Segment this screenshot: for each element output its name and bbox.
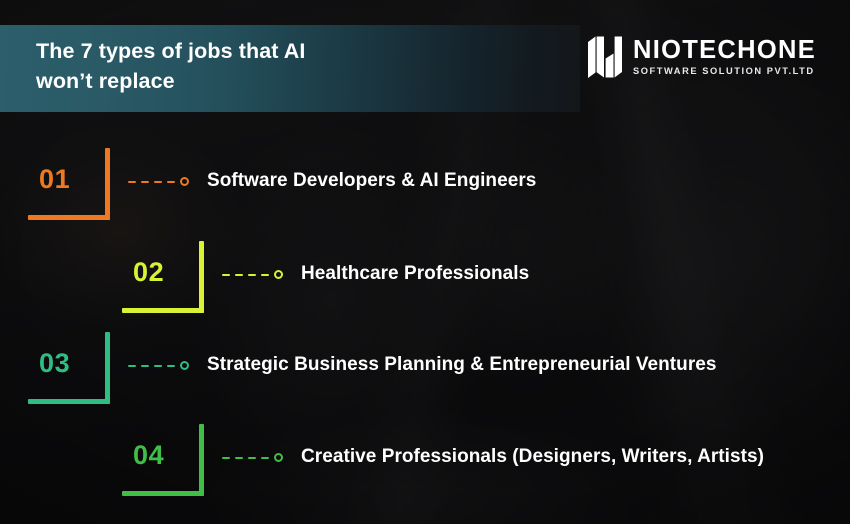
page-title: The 7 types of jobs that AI won’t replac…	[36, 36, 466, 96]
list-item-number: 03	[39, 348, 70, 379]
list-item-label: Creative Professionals (Designers, Write…	[301, 446, 764, 468]
brand-logo: NIOTECHONE SOFTWARE SOLUTION PVT.LTD	[586, 36, 816, 78]
infographic-poster: The 7 types of jobs that AI won’t replac…	[0, 0, 850, 524]
dashed-line-to-circle-icon	[222, 453, 283, 462]
bracket-horizontal	[122, 491, 204, 496]
bracket-horizontal	[28, 399, 110, 404]
niotechone-n-mark-icon	[586, 36, 624, 78]
page-title-line-1: The 7 types of jobs that AI	[36, 39, 306, 63]
dashed-line-to-circle-icon	[128, 361, 189, 370]
list-item-number: 02	[133, 257, 164, 288]
bracket-vertical	[199, 241, 204, 313]
bracket-vertical	[199, 424, 204, 496]
list-item-label: Healthcare Professionals	[301, 263, 529, 285]
dashed-line-to-circle-icon	[222, 270, 283, 279]
bracket-vertical	[105, 332, 110, 404]
dashed-line-to-circle-icon	[128, 177, 189, 186]
brand-logo-text: NIOTECHONE SOFTWARE SOLUTION PVT.LTD	[633, 38, 816, 77]
brand-tagline: SOFTWARE SOLUTION PVT.LTD	[633, 67, 816, 76]
list-item-number: 01	[39, 164, 70, 195]
list-item-label: Software Developers & AI Engineers	[207, 170, 536, 192]
bracket-vertical	[105, 148, 110, 220]
list-item-label: Strategic Business Planning & Entreprene…	[207, 354, 717, 376]
brand-name: NIOTECHONE	[633, 38, 816, 64]
bracket-horizontal	[28, 215, 110, 220]
bracket-horizontal	[122, 308, 204, 313]
page-title-line-2: won’t replace	[36, 69, 175, 93]
list-item-number: 04	[133, 440, 164, 471]
